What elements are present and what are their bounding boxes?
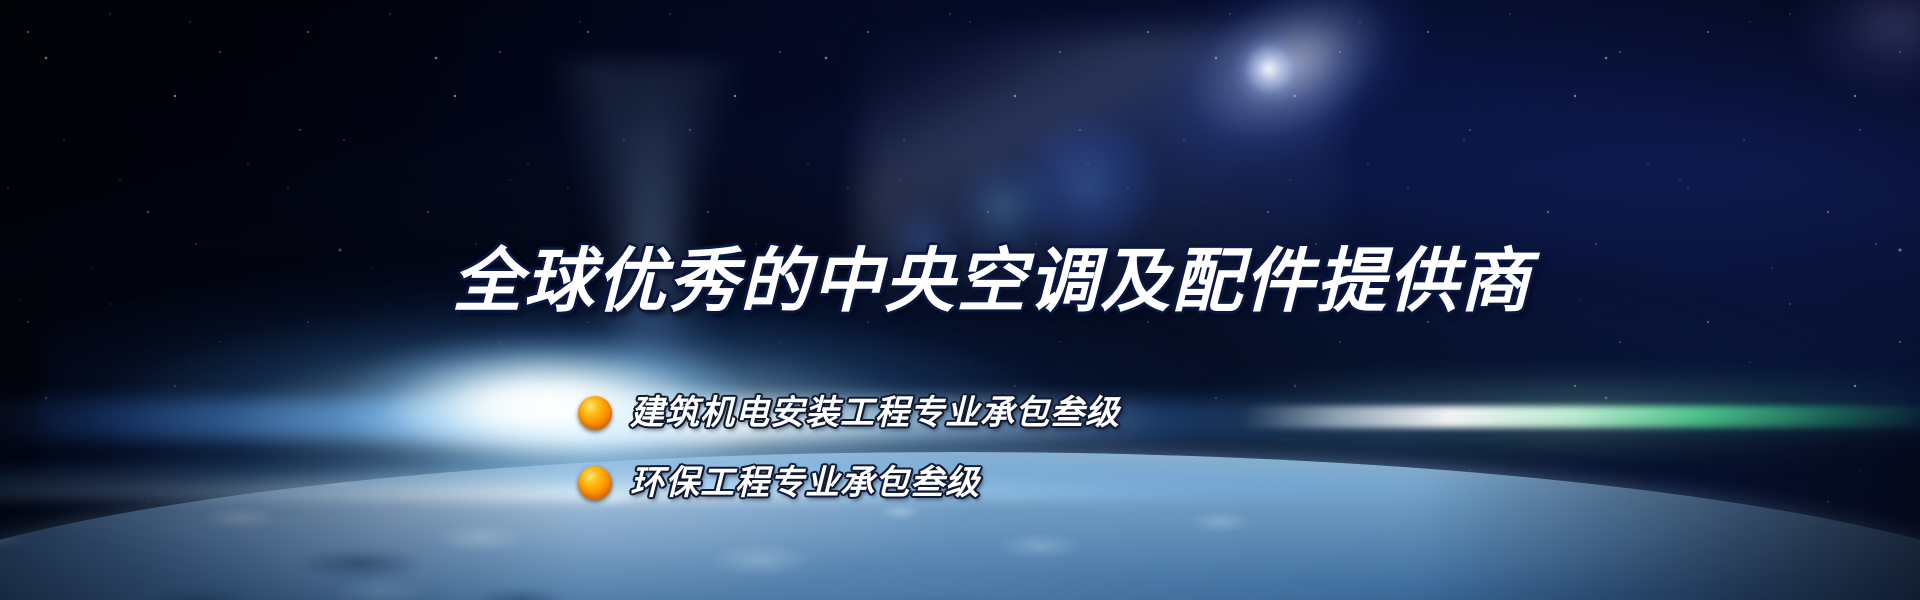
orange-sphere-bullet-icon: [578, 466, 612, 500]
banner-headline: 全球优秀的中央空调及配件提供商: [452, 246, 1532, 316]
banner-bullet-list: 建筑机电安装工程专业承包叁级 环保工程专业承包叁级: [578, 388, 1120, 528]
banner-content: 全球优秀的中央空调及配件提供商 建筑机电安装工程专业承包叁级 环保工程专业承包叁…: [0, 0, 1920, 600]
bullet-item-1: 建筑机电安装工程专业承包叁级: [578, 388, 1120, 438]
bullet-item-1-label: 建筑机电安装工程专业承包叁级: [630, 396, 1120, 430]
bullet-item-2-label: 环保工程专业承包叁级: [630, 466, 980, 500]
hero-banner: 全球优秀的中央空调及配件提供商 建筑机电安装工程专业承包叁级 环保工程专业承包叁…: [0, 0, 1920, 600]
bullet-item-2: 环保工程专业承包叁级: [578, 458, 1120, 508]
orange-sphere-bullet-icon: [578, 396, 612, 430]
